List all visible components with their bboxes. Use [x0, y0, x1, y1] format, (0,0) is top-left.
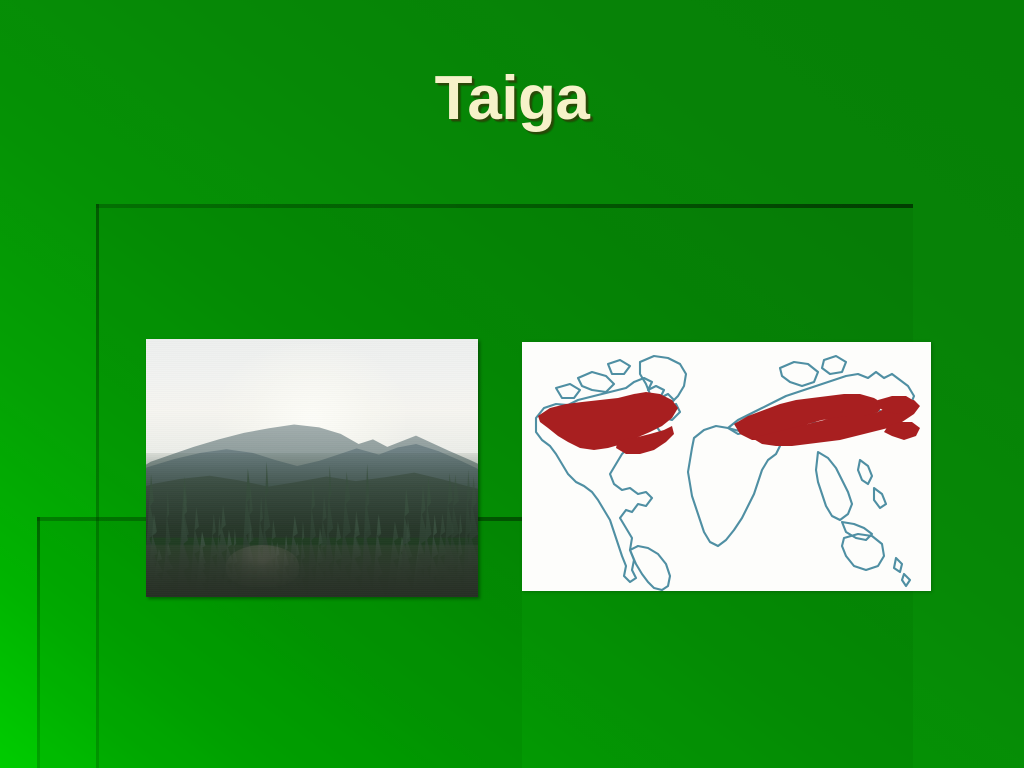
presentation-slide: Taiga: [0, 0, 1024, 768]
continent-outlines: [536, 356, 914, 590]
taiga-landscape-photo: [146, 339, 478, 597]
world-taiga-distribution-map: [522, 342, 931, 591]
slide-title: Taiga: [0, 68, 1024, 130]
taiga-region-shading: [538, 392, 920, 454]
map-svg: [522, 342, 931, 591]
panel-top-edge: [96, 204, 913, 208]
photo-understory: [146, 545, 478, 597]
panel-left-edge: [37, 517, 40, 768]
